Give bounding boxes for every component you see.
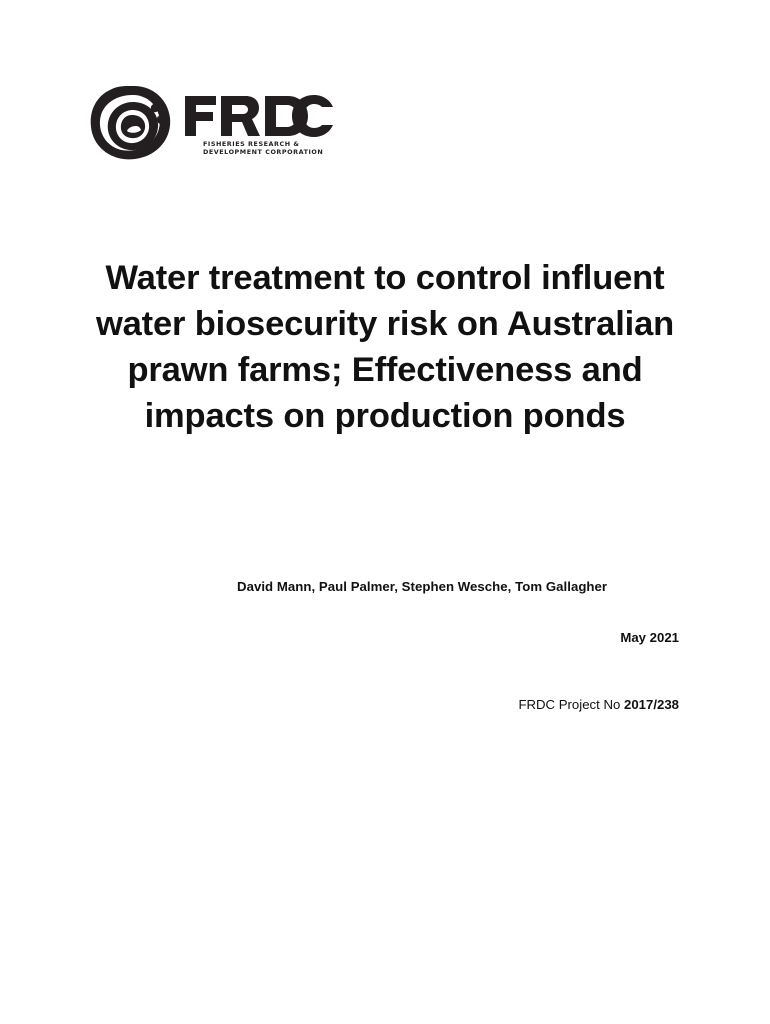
frdc-spiral-mark-icon	[88, 84, 174, 162]
document-title: Water treatment to control influent wate…	[60, 255, 710, 439]
frdc-logo: FISHERIES RESEARCH & DEVELOPMENT CORPORA…	[88, 84, 388, 168]
frdc-tagline-line-2: DEVELOPMENT CORPORATION	[203, 148, 393, 156]
publication-date: May 2021	[620, 629, 679, 647]
title-line-3: prawn farms; Effectiveness and	[60, 347, 710, 393]
frdc-tagline: FISHERIES RESEARCH & DEVELOPMENT CORPORA…	[203, 140, 393, 156]
title-line-1: Water treatment to control influent	[60, 255, 710, 301]
project-number: FRDC Project No 2017/238	[518, 696, 679, 714]
title-line-4: impacts on production ponds	[60, 393, 710, 439]
project-number-label: FRDC Project No	[518, 697, 624, 712]
frdc-tagline-line-1: FISHERIES RESEARCH &	[203, 140, 393, 148]
title-line-2: water biosecurity risk on Australian	[60, 301, 710, 347]
cover-page: FISHERIES RESEARCH & DEVELOPMENT CORPORA…	[0, 0, 770, 1024]
frdc-wordmark	[184, 94, 334, 138]
author-list: David Mann, Paul Palmer, Stephen Wesche,…	[237, 578, 607, 596]
project-number-code: 2017/238	[624, 697, 679, 712]
